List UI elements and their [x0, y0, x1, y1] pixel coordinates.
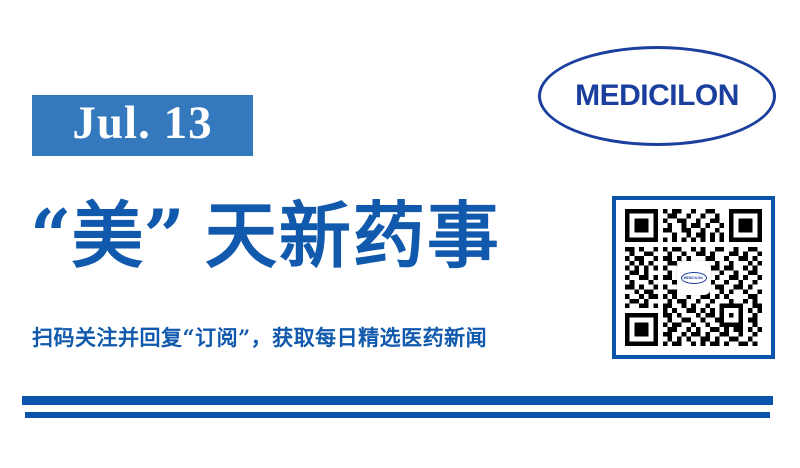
- date-badge-label: Jul. 13: [72, 100, 212, 147]
- footer-rule-thin: [25, 412, 770, 418]
- poster-canvas: Jul. 13 MEDICILON “美” 天新药事 扫码关注并回复“订阅”，获…: [0, 0, 800, 468]
- medicilon-logo: MEDICILON: [538, 46, 776, 146]
- qr-code-frame[interactable]: MEDICILON: [612, 196, 775, 359]
- qr-center-oval-icon: MEDICILON: [681, 272, 707, 284]
- subtitle-text: 扫码关注并回复“订阅”，获取每日精选医药新闻: [32, 325, 487, 350]
- qr-center-logo: MEDICILON: [677, 261, 711, 295]
- date-badge: Jul. 13: [32, 95, 253, 156]
- headline-rest-part: 天新药事: [205, 200, 501, 272]
- footer-rule-thick: [22, 396, 773, 405]
- headline-quoted-part: “美”: [30, 200, 185, 272]
- qr-code-image[interactable]: MEDICILON: [625, 209, 762, 346]
- headline: “美” 天新药事: [30, 188, 590, 284]
- logo-wordmark: MEDICILON: [538, 79, 776, 113]
- qr-center-wordmark: MEDICILON: [684, 276, 703, 280]
